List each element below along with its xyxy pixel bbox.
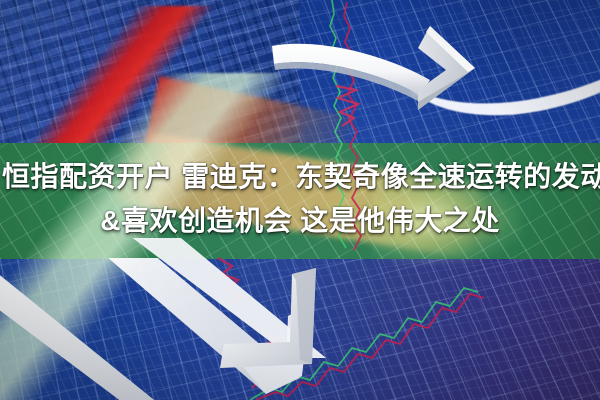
banner-image: 恒指配资开户 雷迪克：东契奇像全速运转的发动机 &喜欢创造机会 这是他伟大之处 bbox=[0, 0, 600, 400]
headline-line-2: &喜欢创造机会 这是他伟大之处 bbox=[0, 199, 600, 243]
headline-line-1: 恒指配资开户 雷迪克：东契奇像全速运转的发动机 bbox=[0, 155, 600, 199]
headline-text: 恒指配资开户 雷迪克：东契奇像全速运转的发动机 &喜欢创造机会 这是他伟大之处 bbox=[0, 155, 600, 243]
